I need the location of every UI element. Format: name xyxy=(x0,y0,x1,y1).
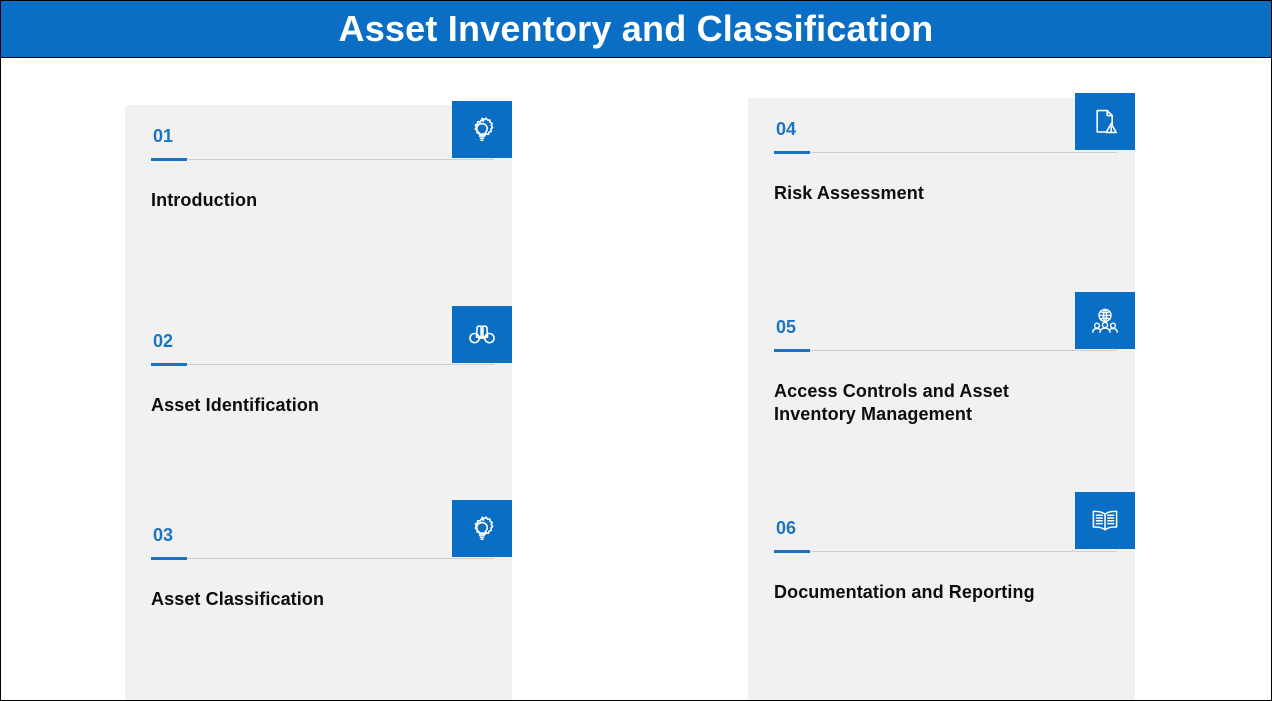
card-icon-badge-03[interactable] xyxy=(452,500,512,557)
card-number-04: 04 xyxy=(774,120,1117,138)
card-number-01: 01 xyxy=(151,127,494,145)
divider-accent xyxy=(774,151,810,154)
divider-accent xyxy=(151,363,187,366)
slide-canvas: Asset Inventory and Classification 01 In… xyxy=(0,0,1272,701)
divider-base xyxy=(774,152,1117,153)
divider-accent xyxy=(774,349,810,352)
card-title-03: Asset Classification xyxy=(151,588,494,611)
card-content-02: 02 Asset Identification xyxy=(151,332,494,528)
card-content-06: 06 Documentation and Reporting xyxy=(774,519,1117,701)
card-title-06: Documentation and Reporting xyxy=(774,581,1117,604)
card-number-05: 05 xyxy=(774,318,1117,336)
card-divider-02 xyxy=(151,363,494,366)
agenda-card-grid: 01 Introduction 0 xyxy=(1,58,1271,700)
divider-base xyxy=(774,551,1117,552)
page-title: Asset Inventory and Classification xyxy=(339,11,934,47)
divider-base xyxy=(151,159,494,160)
divider-accent xyxy=(774,550,810,553)
card-title-01: Introduction xyxy=(151,189,494,212)
slide-title-bar: Asset Inventory and Classification xyxy=(1,1,1271,58)
card-number-03: 03 xyxy=(151,526,494,544)
card-divider-03 xyxy=(151,557,494,560)
divider-base xyxy=(774,350,1117,351)
document-warning-icon xyxy=(1089,106,1121,138)
card-divider-01 xyxy=(151,158,494,161)
card-divider-04 xyxy=(774,151,1117,154)
card-title-02: Asset Identification xyxy=(151,394,494,417)
card-content-04: 04 Risk Assessment xyxy=(774,120,1117,317)
card-icon-badge-06[interactable] xyxy=(1075,492,1135,549)
card-content-01: 01 Introduction xyxy=(151,127,494,324)
card-content-03: 03 Asset Classification xyxy=(151,526,494,701)
card-number-06: 06 xyxy=(774,519,1117,537)
card-content-05: 05 Access Controls and Asset Inventory M… xyxy=(774,318,1117,514)
card-icon-badge-04[interactable] xyxy=(1075,93,1135,150)
gear-lightbulb-icon xyxy=(466,114,498,146)
gear-lightbulb-icon xyxy=(466,513,498,545)
card-icon-badge-05[interactable] xyxy=(1075,292,1135,349)
card-divider-06 xyxy=(774,550,1117,553)
card-title-04: Risk Assessment xyxy=(774,182,1117,205)
divider-accent xyxy=(151,557,187,560)
globe-people-icon xyxy=(1089,305,1121,337)
binoculars-icon xyxy=(466,319,498,351)
card-number-02: 02 xyxy=(151,332,494,350)
card-title-05: Access Controls and Asset Inventory Mana… xyxy=(774,380,1094,426)
divider-base xyxy=(151,558,494,559)
divider-accent xyxy=(151,158,187,161)
card-icon-badge-01[interactable] xyxy=(452,101,512,158)
divider-base xyxy=(151,364,494,365)
open-book-icon xyxy=(1089,505,1121,537)
card-divider-05 xyxy=(774,349,1117,352)
card-icon-badge-02[interactable] xyxy=(452,306,512,363)
